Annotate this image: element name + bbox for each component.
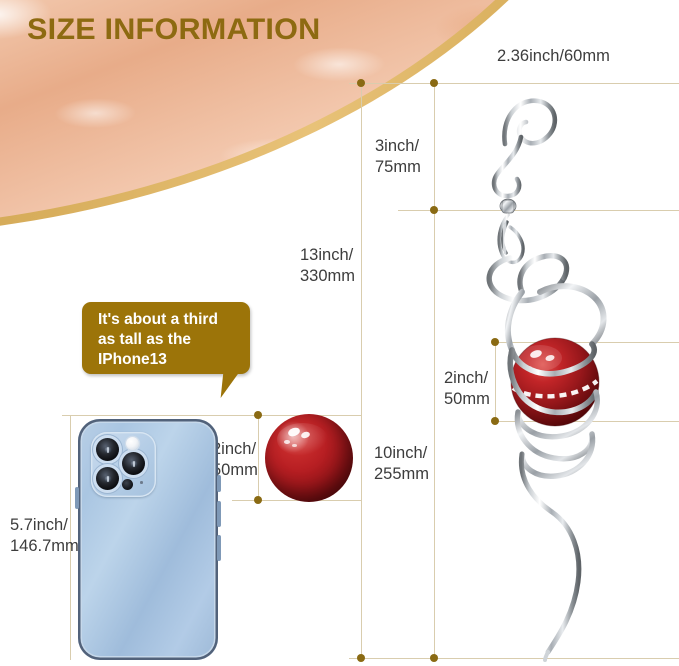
callout-bubble-text: It's about a third as tall as the IPhone… <box>98 310 218 370</box>
guide-dot-bottom-left <box>357 654 365 662</box>
s-hook-icon <box>494 101 555 196</box>
callout-bubble-tail <box>221 372 249 398</box>
guide-dot-top-left <box>357 79 365 87</box>
red-ball-comparison <box>265 414 353 502</box>
mute-switch <box>75 487 79 509</box>
guide-dot-ball-left-bottom <box>254 496 262 504</box>
guide-dot-hook-bottom <box>430 206 438 214</box>
dimension-phone-height: 5.7inch/ 146.7mm <box>10 515 79 557</box>
guide-dot-ball-left-top <box>254 411 262 419</box>
microphone-icon <box>140 481 143 484</box>
swivel-icon <box>500 199 516 213</box>
camera-flash-icon <box>126 437 139 450</box>
dimension-total-height: 13inch/ 330mm <box>300 245 355 287</box>
spiral-tail <box>521 454 578 652</box>
volume-down-button <box>217 501 221 527</box>
guide-line-total-height <box>361 83 362 659</box>
callout-bubble: It's about a third as tall as the IPhone… <box>82 302 250 374</box>
lidar-sensor-icon <box>122 479 133 490</box>
power-button <box>217 535 221 561</box>
camera-lens-wide-icon <box>96 438 119 461</box>
spiral-wire <box>489 256 566 301</box>
wind-spinner-illustration <box>460 82 650 662</box>
guide-dot-top-right <box>430 79 438 87</box>
spiral-tail-tip <box>545 652 548 660</box>
volume-up-button <box>217 475 221 492</box>
dimension-spiral-height: 10inch/ 255mm <box>374 443 429 485</box>
iphone-illustration <box>78 419 218 660</box>
size-information-infographic: SIZE INFORMATION 2.36inch/60mm 3inch/ 75… <box>0 0 679 666</box>
camera-module <box>91 432 156 497</box>
guide-line-ball-left-diameter <box>258 415 259 501</box>
camera-lens-ultrawide-icon <box>96 467 119 490</box>
dimension-spinner-width: 2.36inch/60mm <box>497 46 610 67</box>
dimension-hook-height: 3inch/ 75mm <box>375 136 421 178</box>
camera-lens-telephoto-icon <box>122 452 145 475</box>
page-title: SIZE INFORMATION <box>27 13 320 47</box>
guide-line-section-split <box>434 83 435 659</box>
clasp-icon <box>499 215 523 262</box>
guide-dot-bottom-right <box>430 654 438 662</box>
